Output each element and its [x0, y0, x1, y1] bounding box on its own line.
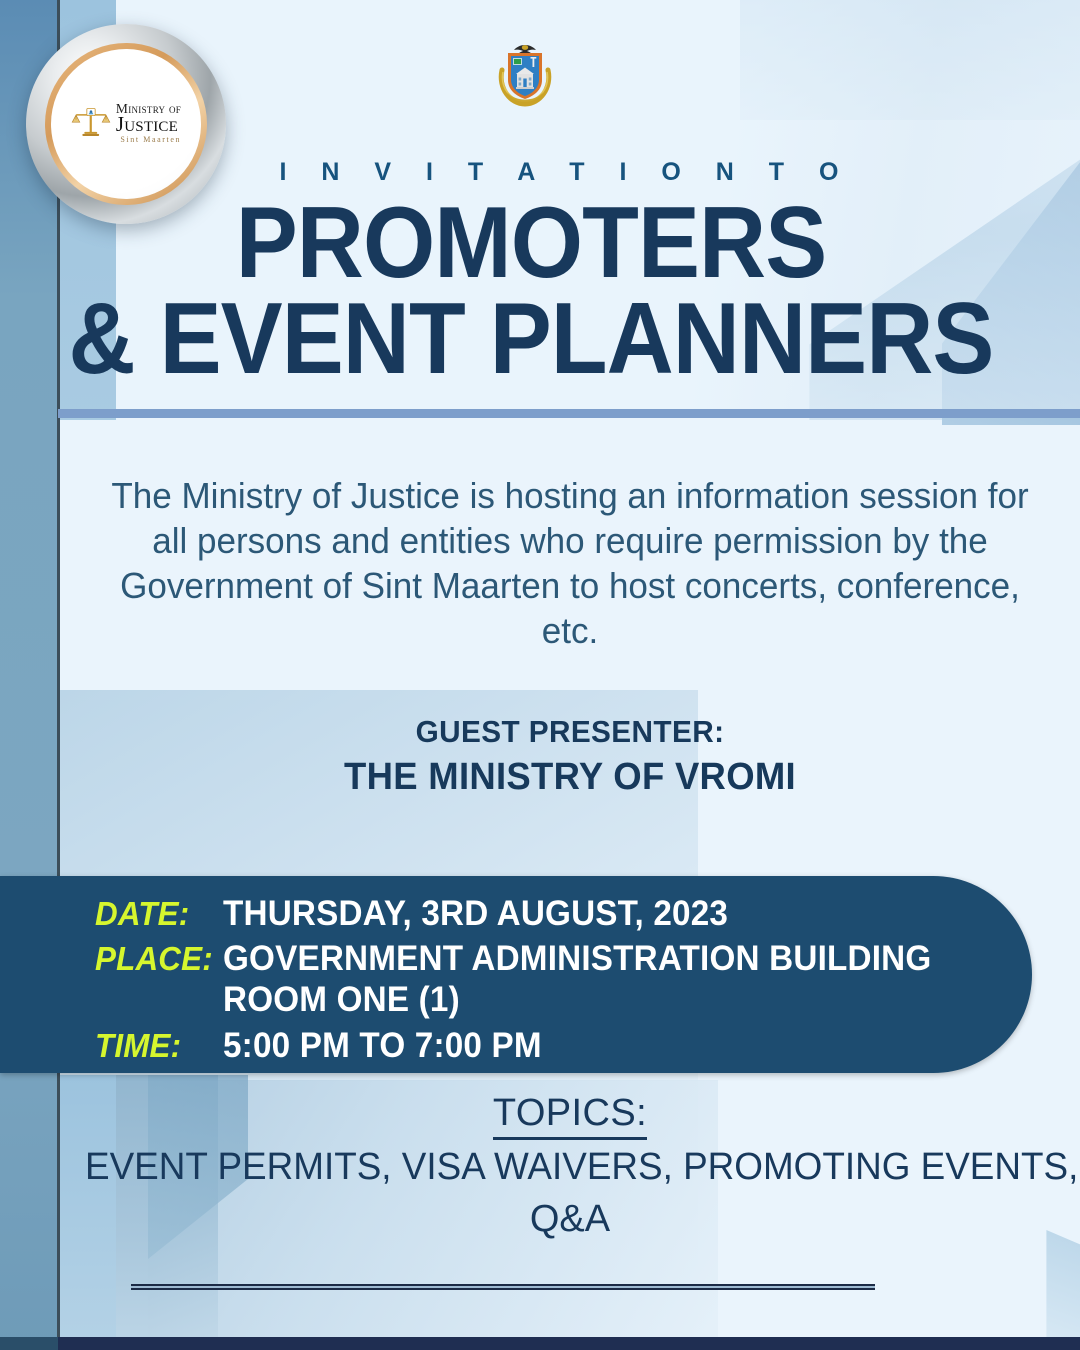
- logo-line-2: Justice: [116, 114, 181, 135]
- detail-row-place: PLACE: GOVERNMENT ADMINISTRATION BUILDIN…: [95, 939, 992, 979]
- page-title: PROMOTERS & EVENT PLANNERS: [42, 196, 1019, 388]
- bottom-strip: [0, 1337, 1080, 1350]
- guest-presenter-label: GUEST PRESENTER:: [90, 714, 1050, 750]
- bottom-strip-left: [0, 1337, 58, 1350]
- coat-of-arms-sint-maarten-icon: [494, 40, 556, 112]
- topics-line-1: EVENT PERMITS, VISA WAIVERS, PROMOTING E…: [85, 1146, 1055, 1189]
- guest-presenter-block: GUEST PRESENTER: THE MINISTRY OF VROMI: [90, 714, 1050, 799]
- invitation-poster: Ministry of Justice Sint Maarten: [0, 0, 1080, 1350]
- topics-heading: TOPICS:: [70, 1092, 1070, 1135]
- page-title-line-1: PROMOTERS: [42, 196, 1019, 292]
- place-label: PLACE:: [95, 940, 217, 978]
- event-details-banner: DATE: THURSDAY, 3RD AUGUST, 2023 PLACE: …: [0, 876, 1032, 1073]
- kicker-invitation-to: I N V I T A T I O N T O: [116, 158, 1016, 187]
- bottom-rule: [131, 1284, 875, 1290]
- topics-line-2: Q&A: [70, 1198, 1070, 1241]
- topics-heading-text: TOPICS:: [493, 1092, 647, 1140]
- page-title-line-2: & EVENT PLANNERS: [42, 292, 1019, 388]
- date-label: DATE:: [95, 895, 217, 933]
- logo-line-3: Sint Maarten: [116, 136, 181, 144]
- time-value: 5:00 PM TO 7:00 PM: [223, 1026, 542, 1066]
- ministry-of-justice-logo-badge: Ministry of Justice Sint Maarten: [26, 24, 226, 224]
- date-value: THURSDAY, 3RD AUGUST, 2023: [223, 894, 728, 934]
- scales-of-justice-icon: [71, 106, 111, 140]
- guest-presenter-name: THE MINISTRY OF VROMI: [90, 756, 1050, 799]
- place-value: GOVERNMENT ADMINISTRATION BUILDING: [223, 939, 931, 979]
- time-label: TIME:: [95, 1027, 217, 1065]
- event-details-rows: DATE: THURSDAY, 3RD AUGUST, 2023 PLACE: …: [95, 894, 992, 1066]
- detail-row-date: DATE: THURSDAY, 3RD AUGUST, 2023: [95, 894, 992, 934]
- detail-row-time: TIME: 5:00 PM TO 7:00 PM: [95, 1026, 992, 1066]
- headline-divider-bar: [58, 409, 1080, 418]
- place-value-line-2: ROOM ONE (1): [223, 980, 460, 1020]
- intro-paragraph: The Ministry of Justice is hosting an in…: [90, 474, 1050, 654]
- detail-row-place-continued: ROOM ONE (1): [95, 980, 992, 1020]
